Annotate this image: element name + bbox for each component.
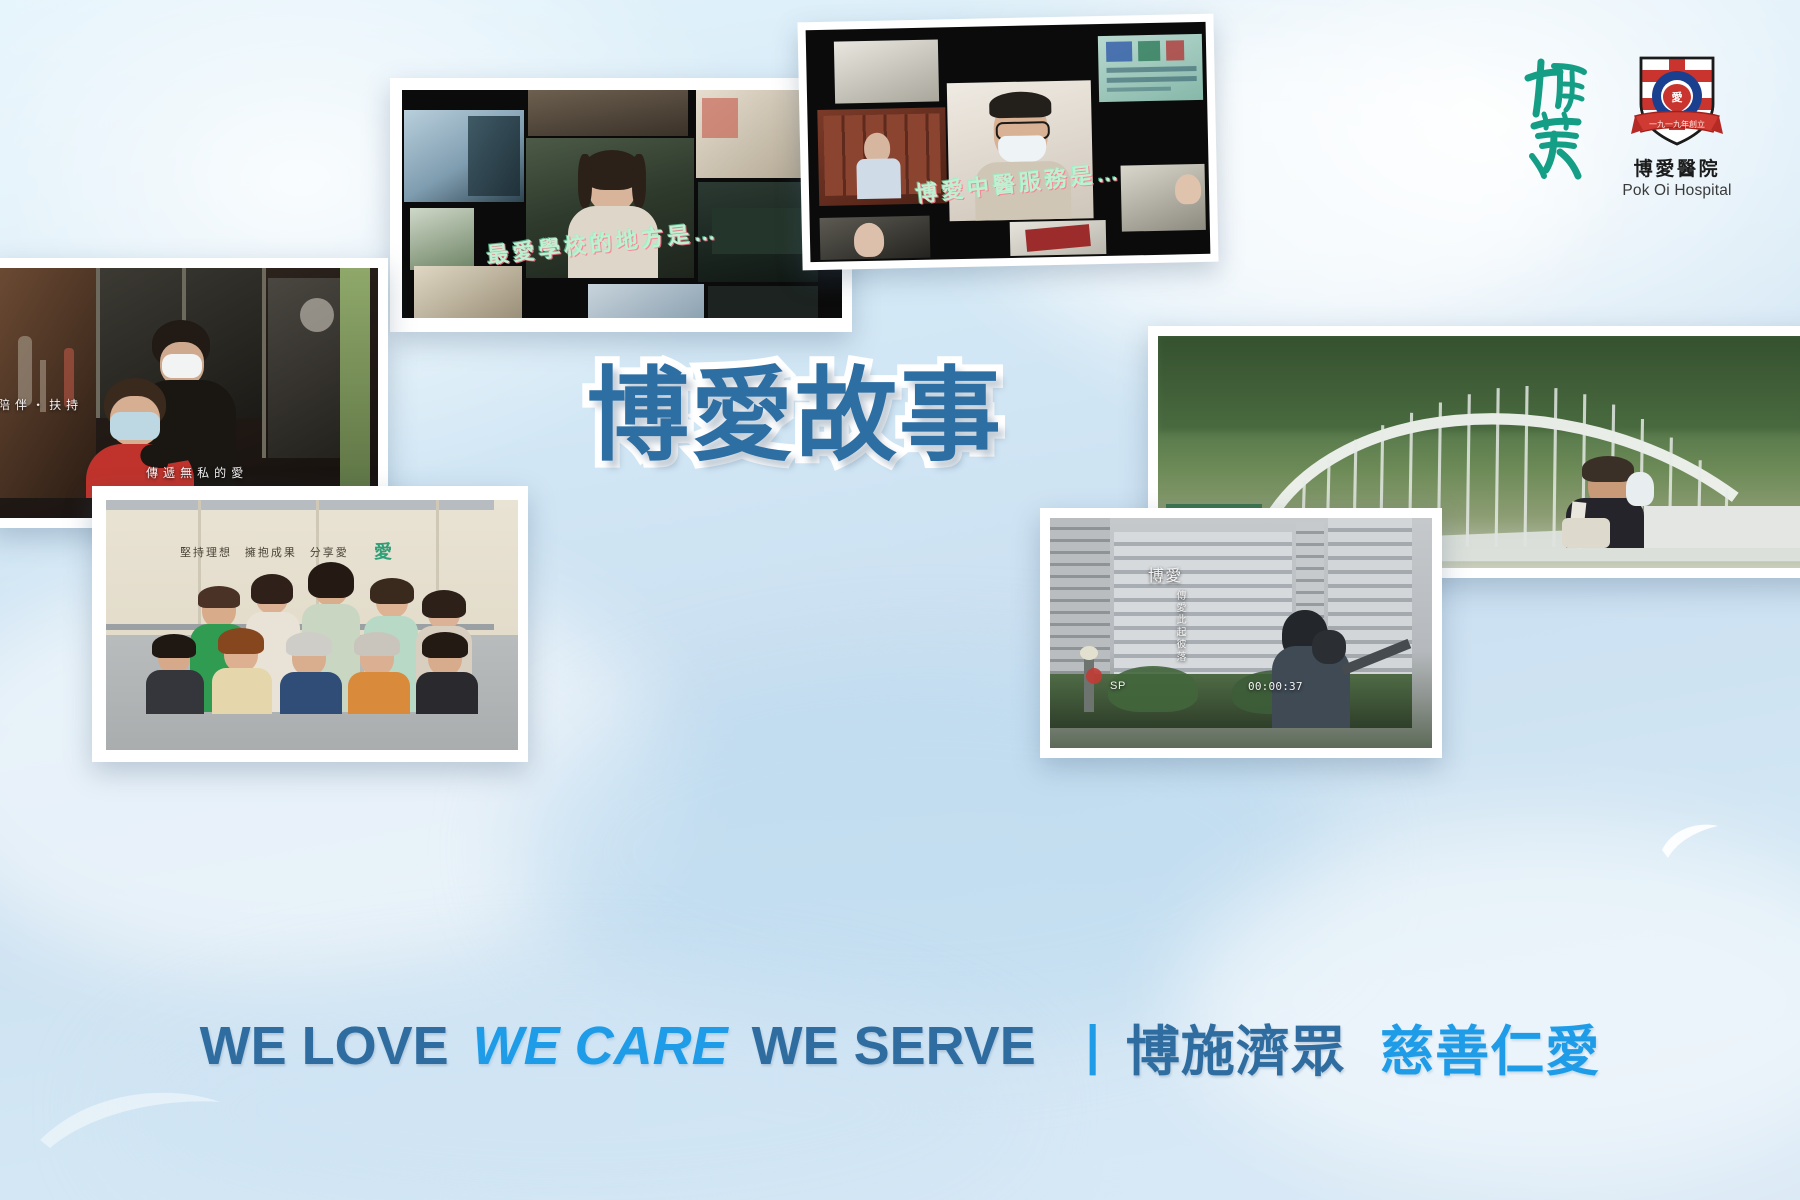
tagline-zh-right: 慈善仁愛 bbox=[1380, 1007, 1600, 1086]
estate-crest-icon bbox=[1086, 668, 1102, 684]
tile-housing-estate[interactable]: 博愛 傳愛此起彼落 SP 00:00:37 bbox=[1040, 508, 1442, 758]
brand-name-zh: 博愛醫院 bbox=[1634, 154, 1721, 181]
tile-group-photo-image: 堅持理想 擁抱成果 分享愛 愛 bbox=[106, 500, 518, 750]
page-title: 博愛故事 bbox=[560, 362, 1030, 472]
tagline-we-serve: WE SERVE bbox=[752, 1015, 1036, 1077]
tagline-we-care: WE CARE bbox=[473, 1015, 728, 1077]
decorative-swoosh-icon bbox=[1660, 820, 1720, 860]
tile-school-collage-image: 最愛學校的地方是… bbox=[402, 90, 842, 318]
tile-estate-caption-vertical: 傳愛此起彼落 bbox=[1172, 590, 1187, 663]
tile-housing-estate-image: 博愛 傳愛此起彼落 SP 00:00:37 bbox=[1050, 518, 1432, 748]
tile-tcm-collage[interactable]: 博愛中醫服務是… bbox=[797, 14, 1218, 271]
brush-calligraphy-icon bbox=[1520, 52, 1592, 180]
poster-canvas: 最愛學校的地方是… bbox=[0, 0, 1800, 1200]
tile-kitchen-caption-left: 陪伴・扶持 bbox=[0, 396, 83, 413]
tile-group-caption: 堅持理想 擁抱成果 分享愛 bbox=[180, 544, 349, 560]
tile-estate-rec-label: SP bbox=[1110, 680, 1126, 692]
tile-kitchen-caption-bottom: 傳遞無私的愛 bbox=[146, 464, 248, 481]
tile-school-collage[interactable]: 最愛學校的地方是… bbox=[390, 78, 852, 332]
group-photo-love-glyph: 愛 bbox=[374, 538, 392, 564]
tagline-we-love: WE LOVE bbox=[200, 1015, 449, 1077]
tile-estate-caption: 博愛 bbox=[1148, 562, 1183, 586]
brand-logo[interactable]: 愛 一九一九年創立 博愛醫院 Pok Oi Hospital bbox=[1520, 52, 1760, 202]
tile-estate-timecode: 00:00:37 bbox=[1248, 680, 1303, 693]
tile-tcm-collage-image: 博愛中醫服務是… bbox=[806, 22, 1211, 262]
hospital-crest-icon: 愛 一九一九年創立 bbox=[1629, 52, 1725, 152]
background-blob bbox=[1180, 820, 1800, 1180]
tile-group-photo[interactable]: 堅持理想 擁抱成果 分享愛 愛 bbox=[92, 486, 528, 762]
tagline-zh-left: 博施濟眾 bbox=[1126, 1007, 1346, 1086]
svg-text:一九一九年創立: 一九一九年創立 bbox=[1649, 119, 1705, 129]
tagline-divider: 丨 bbox=[1060, 1007, 1126, 1086]
svg-text:愛: 愛 bbox=[1672, 90, 1683, 104]
tagline-bar: WE LOVE WE CARE WE SERVE 丨 博施濟眾 慈善仁愛 bbox=[0, 1008, 1800, 1084]
tile-kitchen-hug-image: 陪伴・扶持 傳遞無私的愛 bbox=[0, 268, 378, 518]
brand-name-en: Pok Oi Hospital bbox=[1622, 182, 1731, 200]
decorative-swoosh-icon bbox=[40, 1080, 220, 1150]
